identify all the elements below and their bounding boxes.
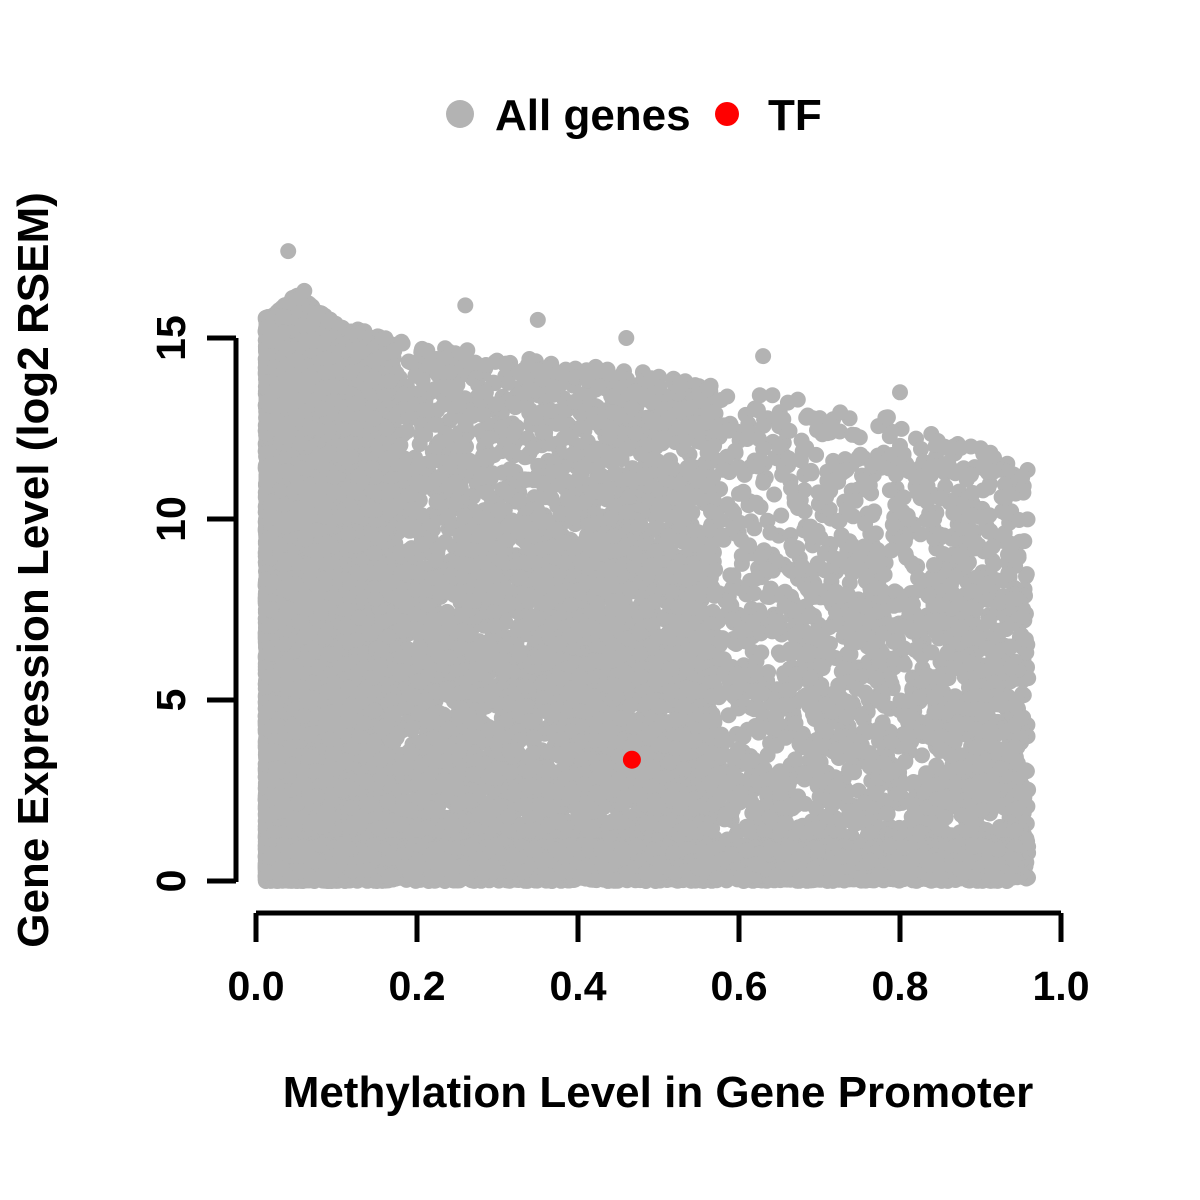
y-tick-label-5: 5 xyxy=(148,689,194,712)
y-tick-label-10: 10 xyxy=(148,496,194,542)
y-axis-title: Gene Expression Level (log2 RSEM) xyxy=(9,192,58,948)
tf-data-point xyxy=(623,751,641,769)
legend-label-tf: TF xyxy=(768,91,822,140)
x-tick-label-0.6: 0.6 xyxy=(711,963,768,1009)
x-tick-label-1.0: 1.0 xyxy=(1033,963,1090,1009)
legend-label-all-genes: All genes xyxy=(495,91,691,140)
x-tick-label-0.8: 0.8 xyxy=(872,963,929,1009)
y-tick-label-0: 0 xyxy=(148,870,194,893)
scatter-plot-figure: 15 10 5 0 0.0 0.2 0.4 0.6 0.8 1.0 Methyl… xyxy=(0,0,1200,1200)
y-tick-label-15: 15 xyxy=(148,315,194,361)
x-tick-label-0.0: 0.0 xyxy=(228,963,285,1009)
x-axis-title: Methylation Level in Gene Promoter xyxy=(283,1068,1034,1117)
legend-marker-tf xyxy=(715,102,739,126)
legend-marker-all-genes xyxy=(446,100,474,128)
x-tick-label-0.4: 0.4 xyxy=(550,963,607,1009)
tf-highlight-point xyxy=(623,751,641,769)
x-tick-label-0.2: 0.2 xyxy=(389,963,446,1009)
figure-canvas: 15 10 5 0 0.0 0.2 0.4 0.6 0.8 1.0 Methyl… xyxy=(0,0,1200,1200)
